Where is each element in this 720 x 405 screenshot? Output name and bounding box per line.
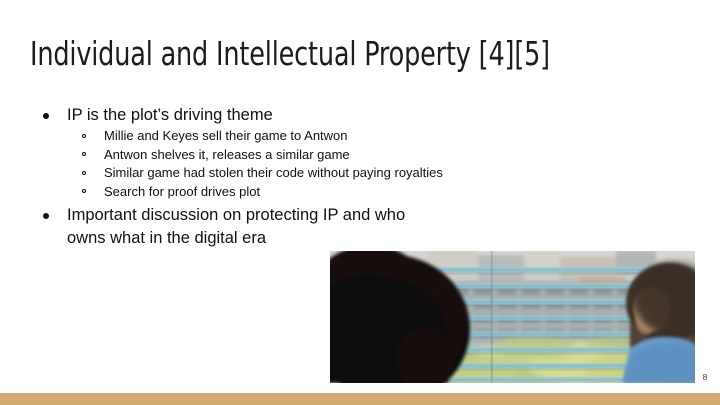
presentation-slide: Individual and Intellectual Property [4]… — [0, 0, 720, 405]
film-still-window-blinds-icon — [330, 251, 695, 383]
bullet-text: Search for proof drives plot — [104, 184, 260, 199]
bullet-item-level1: Important discussion on protecting IP an… — [38, 204, 538, 250]
bullet-circle-icon — [82, 152, 86, 156]
bullet-text-line1: Important discussion on protecting IP an… — [67, 204, 538, 227]
slide-body-content: IP is the plot’s driving theme Millie an… — [38, 104, 538, 250]
bullet-item-level2: Search for proof drives plot — [38, 183, 538, 202]
slide-page-number: 8 — [697, 371, 713, 383]
bottom-accent-bar — [0, 393, 720, 405]
sub-bullet-group: Millie and Keyes sell their game to Antw… — [38, 127, 538, 201]
bullet-item-level2: Antwon shelves it, releases a similar ga… — [38, 146, 538, 165]
bullet-circle-icon — [82, 189, 86, 193]
bullet-disc-icon — [43, 113, 49, 119]
bullet-item-level1: IP is the plot’s driving theme — [38, 104, 538, 127]
bullet-item-level2: Similar game had stolen their code witho… — [38, 164, 538, 183]
bullet-text: Millie and Keyes sell their game to Antw… — [104, 128, 348, 143]
bullet-item-level2: Millie and Keyes sell their game to Antw… — [38, 127, 538, 146]
bullet-text: Antwon shelves it, releases a similar ga… — [104, 147, 350, 162]
bullet-text-line2: owns what in the digital era — [67, 227, 538, 250]
slide-photo — [330, 251, 695, 383]
bullet-disc-icon — [43, 213, 49, 219]
bullet-circle-icon — [82, 134, 86, 138]
slide-title: Individual and Intellectual Property [4]… — [30, 34, 580, 74]
bullet-text: Similar game had stolen their code witho… — [104, 165, 443, 180]
bullet-text: IP is the plot’s driving theme — [67, 106, 273, 124]
bullet-circle-icon — [82, 171, 86, 175]
